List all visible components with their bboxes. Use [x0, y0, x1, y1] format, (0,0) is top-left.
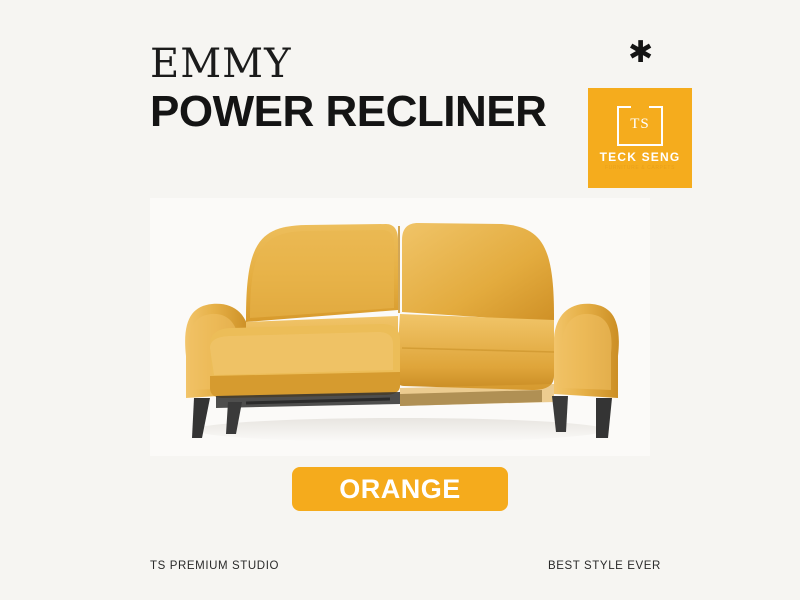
footer-right-text: BEST STYLE EVER — [548, 560, 661, 572]
color-badge: ORANGE — [292, 467, 508, 511]
poster-canvas: EMMY POWER RECLINER ✱ TS TECK SENG FURNI… — [0, 0, 800, 600]
page-title: POWER RECLINER — [150, 88, 546, 136]
brand-logo: TS TECK SENG FURNITURE & CARPETS — [588, 88, 692, 188]
color-badge-label: ORANGE — [339, 474, 461, 505]
logo-monogram: TS — [630, 117, 650, 132]
logo-tagline: FURNITURE & CARPETS — [605, 166, 675, 171]
brand-script-title: EMMY — [150, 44, 292, 84]
recliner-sofa-illustration — [150, 198, 650, 456]
footer-left-text: TS PREMIUM STUDIO — [150, 560, 279, 572]
product-image-panel — [150, 198, 650, 456]
asterisk-icon: ✱ — [628, 42, 650, 64]
logo-brand-name: TECK SENG — [600, 151, 681, 163]
logo-frame-icon: TS — [617, 106, 663, 146]
